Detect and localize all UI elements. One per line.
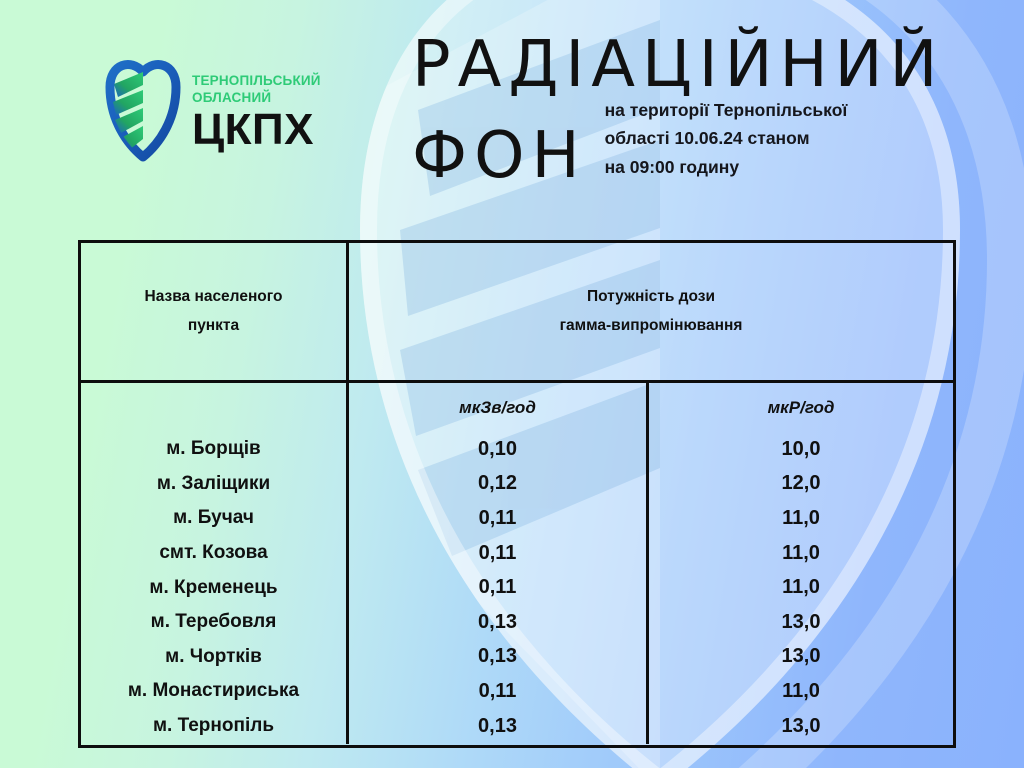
unit-label-ur: мкР/год xyxy=(649,383,953,432)
ur-value: 12,0 xyxy=(649,467,953,502)
ur-value: 11,0 xyxy=(649,501,953,536)
subtitle-line-1: на території Тернопільської xyxy=(605,96,848,124)
table-row: м. Теребовля xyxy=(81,605,346,640)
shield-logo-icon xyxy=(104,58,182,168)
column-header-dose-line-2: гамма-випромінювання xyxy=(560,312,743,341)
column-header-settlement-line-1: Назва населеного xyxy=(145,283,283,312)
column-header-settlement-line-2: пункта xyxy=(145,312,283,341)
table-row: м. Чортків xyxy=(81,640,346,675)
table-row: м. Борщів xyxy=(81,432,346,467)
logo-line-2: ОБЛАСНИЙ xyxy=(192,91,321,105)
ur-value: 11,0 xyxy=(649,536,953,571)
poster-header: ТЕРНОПІЛЬСЬКИЙ ОБЛАСНИЙ ЦКПХ РАДІАЦІЙНИЙ… xyxy=(0,0,1024,232)
table-row: м. Тернопіль xyxy=(81,709,346,744)
table-row: м. Кременець xyxy=(81,570,346,605)
table-row: м. Бучач xyxy=(81,501,346,536)
title-line-2: ФОН xyxy=(412,125,587,187)
title-line-1: РАДІАЦІЙНИЙ xyxy=(412,34,972,96)
table-header-row: Назва населеного пункта Потужність дози … xyxy=(81,243,953,383)
ur-value: 11,0 xyxy=(649,570,953,605)
column-header-dose: Потужність дози гамма-випромінювання xyxy=(349,243,953,380)
table-row: м. Монастириська xyxy=(81,674,346,709)
usv-value: 0,13 xyxy=(349,709,646,744)
column-header-dose-line-1: Потужність дози xyxy=(560,283,743,312)
table-row: м. Заліщики xyxy=(81,467,346,502)
radiation-table: Назва населеного пункта Потужність дози … xyxy=(78,240,956,748)
ur-column: мкР/год 10,012,011,011,011,013,013,011,0… xyxy=(649,383,953,744)
page-title: РАДІАЦІЙНИЙ ФОН на території Тернопільсь… xyxy=(412,34,972,187)
organization-logo: ТЕРНОПІЛЬСЬКИЙ ОБЛАСНИЙ ЦКПХ xyxy=(104,58,321,168)
logo-abbreviation: ЦКПХ xyxy=(192,108,321,152)
ur-value: 10,0 xyxy=(649,432,953,467)
settlement-column: м. Борщівм. Заліщиким. Бучачсмт. Козовам… xyxy=(81,383,349,744)
table-body: м. Борщівм. Заліщиким. Бучачсмт. Козовам… xyxy=(81,383,953,744)
usv-value: 0,11 xyxy=(349,501,646,536)
usv-value: 0,11 xyxy=(349,536,646,571)
subtitle-line-2: області 10.06.24 станом xyxy=(605,124,848,152)
usv-value: 0,13 xyxy=(349,640,646,675)
usv-value: 0,12 xyxy=(349,467,646,502)
ur-value: 13,0 xyxy=(649,640,953,675)
subtitle-line-3: на 09:00 годину xyxy=(605,153,848,181)
usv-column: мкЗв/год 0,100,120,110,110,110,130,130,1… xyxy=(349,383,649,744)
column-header-settlement: Назва населеного пункта xyxy=(81,243,349,380)
title-subtitle: на території Тернопільської області 10.0… xyxy=(605,96,848,187)
usv-value: 0,13 xyxy=(349,605,646,640)
usv-value: 0,11 xyxy=(349,570,646,605)
usv-value: 0,10 xyxy=(349,432,646,467)
unit-label-usv: мкЗв/год xyxy=(349,383,646,432)
ur-value: 13,0 xyxy=(649,605,953,640)
table-row: смт. Козова xyxy=(81,536,346,571)
usv-value: 0,11 xyxy=(349,674,646,709)
logo-line-1: ТЕРНОПІЛЬСЬКИЙ xyxy=(192,74,321,88)
poster-canvas: ТЕРНОПІЛЬСЬКИЙ ОБЛАСНИЙ ЦКПХ РАДІАЦІЙНИЙ… xyxy=(0,0,1024,768)
ur-value: 13,0 xyxy=(649,709,953,744)
ur-value: 11,0 xyxy=(649,674,953,709)
